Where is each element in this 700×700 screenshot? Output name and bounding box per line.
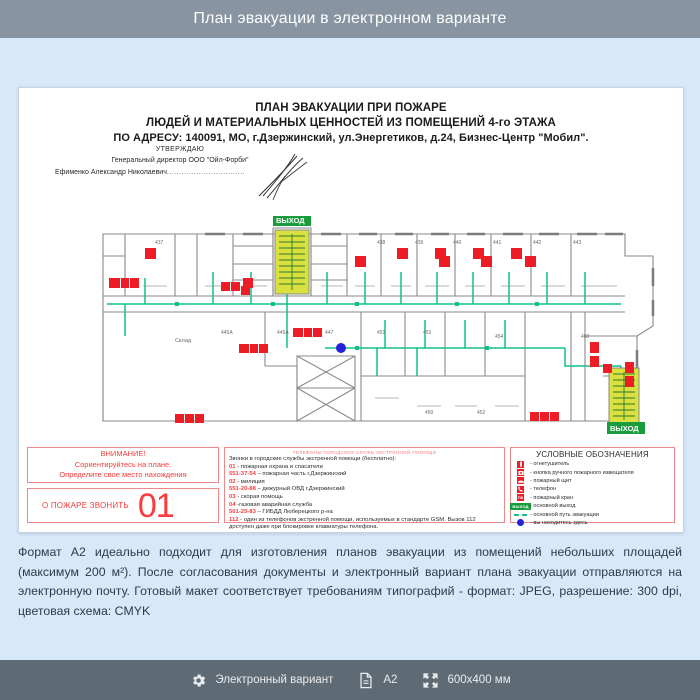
legend-item: - основной путь эвакуации xyxy=(514,510,671,518)
legend-title: УСЛОВНЫЕ ОБОЗНАЧЕНИЯ xyxy=(514,450,671,459)
attention-line-3: Определите свое место нахождения xyxy=(59,470,186,481)
approval-block: УТВЕРЖДАЮ Генеральный директор ООО "Ойл-… xyxy=(55,146,305,176)
emergency-phone-desc: – пожарная часть г.Дзержинский xyxy=(256,471,347,477)
emergency-phone-desc: - пожарная охрана и спасатели xyxy=(236,464,323,470)
svg-text:ВЫХОД: ВЫХОД xyxy=(276,216,305,225)
emergency-phone-row: 551-20-88 – дежурный ОВД г.Дзержинский xyxy=(229,486,500,494)
legend-item-label: - основной путь эвакуации xyxy=(530,512,599,518)
page-title: План эвакуации в электронном варианте xyxy=(193,10,506,28)
footer-label-electronic-variant: Электронный вариант xyxy=(215,674,333,686)
svg-text:440: 440 xyxy=(453,240,462,246)
legend-item-label: - вы находитесь здесь xyxy=(530,520,588,526)
legend-item: ПК- пожарный кран xyxy=(514,494,671,502)
legend-item-label: - телефон xyxy=(530,486,556,492)
emergency-phone-desc: -газовая аварийная служба xyxy=(236,502,313,508)
approval-name-row: Ефименко Александр Николаевич...........… xyxy=(55,169,305,176)
approval-name: Ефименко Александр Николаевич xyxy=(55,169,167,176)
legend-item: - пожарный щит xyxy=(514,477,671,485)
approval-role: Генеральный директор ООО "Ойл-Форби" xyxy=(55,157,305,164)
legend-item-label: - пожарный щит xyxy=(530,478,572,484)
expand-arrows-icon xyxy=(421,671,439,689)
approval-dots: ................................ xyxy=(167,169,245,176)
attention-line-2: Сориентируйтесь на плане. xyxy=(59,460,186,471)
attention-line-1: ВНИМАНИЕ! xyxy=(59,449,186,460)
legend-item: - вы находитесь здесь xyxy=(514,519,671,527)
svg-text:460: 460 xyxy=(581,334,590,340)
svg-text:450: 450 xyxy=(425,410,434,416)
footer-item-size[interactable]: 600x400 мм xyxy=(421,671,510,689)
svg-text:445A: 445A xyxy=(277,330,289,336)
emergency-phone-row: 04 -газовая аварийная служба xyxy=(229,502,500,510)
page-footer: Электронный вариант A2 600x400 мм xyxy=(0,660,700,700)
plan-info-row: ВНИМАНИЕ! Сориентируйтесь на плане. Опре… xyxy=(27,446,675,524)
evacuation-plan-card: ПЛАН ЭВАКУАЦИИ ПРИ ПОЖАРЕ ЛЮДЕЙ И МАТЕРИ… xyxy=(18,87,684,533)
legend-box: УСЛОВНЫЕ ОБОЗНАЧЕНИЯ - огнетушитель- кно… xyxy=(510,447,675,523)
fire-call-box: О ПОЖАРЕ ЗВОНИТЬ 01 xyxy=(27,488,219,523)
svg-text:447: 447 xyxy=(325,330,334,336)
attention-text: ВНИМАНИЕ! Сориентируйтесь на плане. Опре… xyxy=(59,449,186,481)
floor-plan-drawing: 437 438 439 440 441 442 443 445A 445A 44… xyxy=(25,216,677,441)
svg-text:452: 452 xyxy=(477,410,486,416)
emergency-phones-intro: Звонки в городские службы экстренной пом… xyxy=(229,456,500,464)
footer-label-size: 600x400 мм xyxy=(447,674,510,686)
svg-text:451: 451 xyxy=(377,330,386,336)
svg-text:453: 453 xyxy=(423,330,432,336)
legend-item: ВЫХОД- основной выход xyxy=(514,502,671,510)
svg-text:ВЫХОД: ВЫХОД xyxy=(610,424,639,433)
legend-item-label: - кнопка ручного пожарного извещателя xyxy=(530,470,634,476)
emergency-phone-row: 551-37-54 – пожарная часть г.Дзержинский xyxy=(229,471,500,479)
legend-list: - огнетушитель- кнопка ручного пожарного… xyxy=(514,460,671,527)
footer-label-format: A2 xyxy=(383,674,397,686)
svg-text:Склад: Склад xyxy=(175,338,192,344)
document-icon xyxy=(357,671,375,689)
you-are-here-marker xyxy=(336,343,346,353)
description-text: Формат A2 идеально подходит для изготовл… xyxy=(18,543,682,621)
legend-item-label: - основной выход xyxy=(530,503,575,509)
page-root: План эвакуации в электронном варианте ПЛ… xyxy=(0,0,700,700)
emergency-phones-heading: ТЕЛЕФОНЫ ГОРОДСКИХ СЛУЖБ ЭКСТРЕННОЙ ПОМО… xyxy=(229,450,500,455)
you-are-here-icon xyxy=(514,519,527,526)
svg-text:442: 442 xyxy=(533,240,542,246)
fire-hydrant-icon: ПК xyxy=(514,494,527,501)
legend-item: - кнопка ручного пожарного извещателя xyxy=(514,468,671,476)
emergency-phone-desc: - милиция xyxy=(236,479,265,485)
emergency-phone-desc: – дежурный ОВД г.Дзержинский xyxy=(256,486,345,492)
emergency-phone-number: 551-37-54 xyxy=(229,471,256,477)
emergency-phone-desc: – ГИБДД Люберецкого р-на xyxy=(256,509,333,515)
gear-icon xyxy=(189,671,207,689)
fire-call-label: О ПОЖАРЕ ЗВОНИТЬ xyxy=(42,501,129,510)
footer-item-format[interactable]: A2 xyxy=(357,671,397,689)
attention-box: ВНИМАНИЕ! Сориентируйтесь на плане. Опре… xyxy=(27,447,219,483)
footer-item-electronic-variant[interactable]: Электронный вариант xyxy=(189,671,333,689)
plan-title-line-3: ПО АДРЕСУ: 140091, МО, г.Дзержинский, ул… xyxy=(19,131,683,146)
emergency-phone-row: 501-25-83 – ГИБДД Люберецкого р-на xyxy=(229,509,500,517)
fire-call-number: 01 xyxy=(138,491,174,521)
legend-item-label: - огнетушитель xyxy=(530,461,569,467)
emergency-phone-row: 03 - скорая помощь xyxy=(229,494,500,502)
manual-fire-call-point-icon xyxy=(514,469,527,476)
svg-text:438: 438 xyxy=(377,240,386,246)
emergency-phone-desc: - один из телефонов экстренной помощи, и… xyxy=(239,517,476,523)
plan-title-line-2: ЛЮДЕЙ И МАТЕРИАЛЬНЫХ ЦЕННОСТЕЙ ИЗ ПОМЕЩЕ… xyxy=(19,116,683,131)
evacuation-path-icon xyxy=(514,514,527,516)
legend-item: - телефон xyxy=(514,485,671,493)
emergency-phone-row: 112 - один из телефонов экстренной помощ… xyxy=(229,517,500,525)
svg-text:437: 437 xyxy=(155,240,164,246)
emergency-phones-list: 01 - пожарная охрана и спасатели551-37-5… xyxy=(229,464,500,525)
telephone-icon xyxy=(514,486,527,493)
emergency-phone-number: 501-25-83 xyxy=(229,509,256,515)
fire-shield-icon xyxy=(514,477,527,484)
svg-text:454: 454 xyxy=(495,334,504,340)
plan-title-block: ПЛАН ЭВАКУАЦИИ ПРИ ПОЖАРЕ ЛЮДЕЙ И МАТЕРИ… xyxy=(19,88,683,146)
exit-sign-icon: ВЫХОД xyxy=(514,503,527,510)
svg-text:443: 443 xyxy=(573,240,582,246)
emergency-phones-box: ТЕЛЕФОНЫ ГОРОДСКИХ СЛУЖБ ЭКСТРЕННОЙ ПОМО… xyxy=(224,447,505,523)
emergency-phones-last-line: доступен даже при блокировке клавиатуры … xyxy=(229,524,500,532)
emergency-phone-number: 551-20-88 xyxy=(229,486,256,492)
svg-text:445A: 445A xyxy=(221,330,233,336)
svg-text:439: 439 xyxy=(415,240,424,246)
emergency-phone-number: 112 xyxy=(229,517,239,523)
legend-item: - огнетушитель xyxy=(514,460,671,468)
emergency-phone-desc: - скорая помощь xyxy=(236,494,283,500)
approval-heading: УТВЕРЖДАЮ xyxy=(55,146,305,153)
page-header: План эвакуации в электронном варианте xyxy=(0,0,700,38)
main-content: ПЛАН ЭВАКУАЦИИ ПРИ ПОЖАРЕ ЛЮДЕЙ И МАТЕРИ… xyxy=(0,38,700,660)
svg-text:441: 441 xyxy=(493,240,502,246)
legend-item-label: - пожарный кран xyxy=(530,495,573,501)
plan-title-line-1: ПЛАН ЭВАКУАЦИИ ПРИ ПОЖАРЕ xyxy=(19,101,683,116)
fire-extinguisher-icon xyxy=(514,461,527,468)
